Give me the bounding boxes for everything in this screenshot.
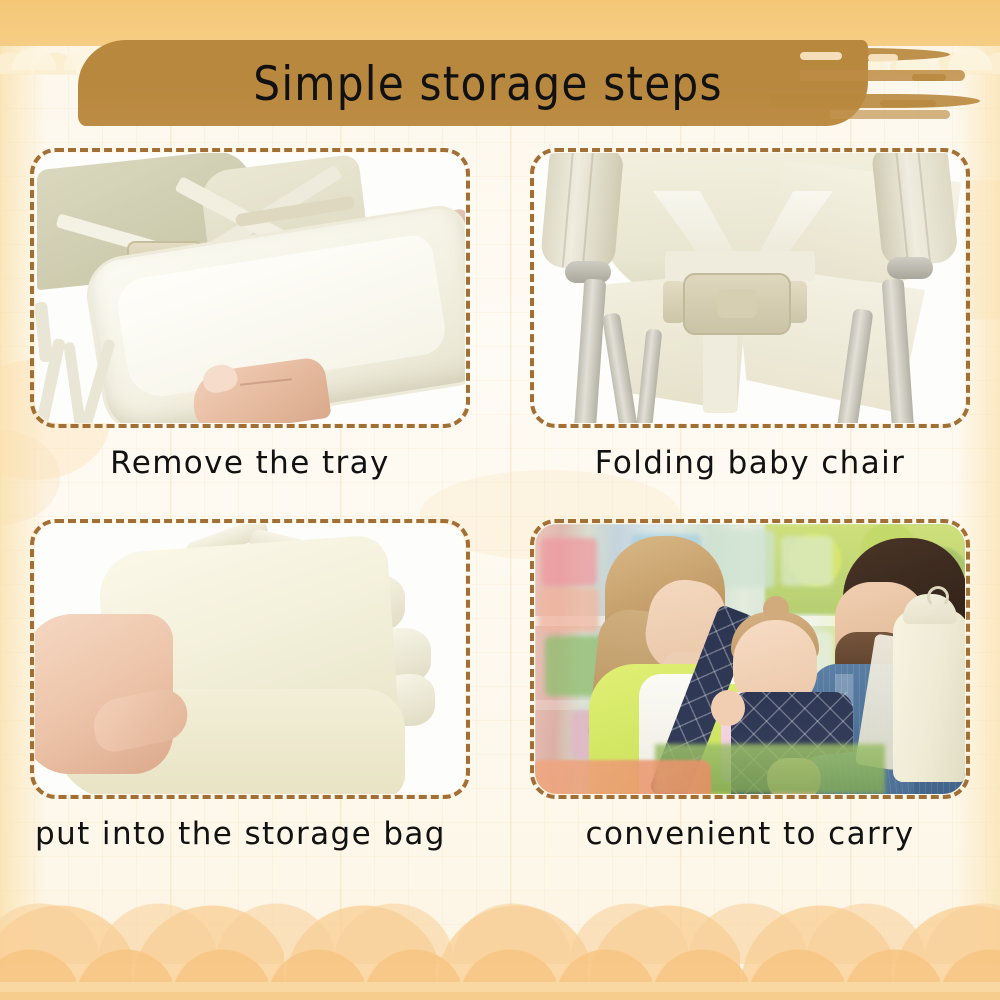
step-3-caption: put into the storage bag [21, 815, 479, 854]
step-4-caption: convenient to carry [528, 815, 972, 854]
step-4-photo-wrap [530, 519, 970, 799]
step-card-3[interactable]: put into the storage bag [0, 519, 500, 854]
steps-row-bottom: put into the storage bag [0, 519, 1000, 854]
page-title: Simple storage steps [0, 36, 1000, 132]
product-infographic-page: Simple storage steps [0, 0, 1000, 1000]
folded-baby-chair-harness-photo [535, 153, 965, 423]
step-2-photo-wrap [530, 148, 970, 428]
page-header: Simple storage steps [0, 36, 1000, 132]
chair-into-storage-bag-photo [35, 524, 465, 794]
step-card-4[interactable]: convenient to carry [500, 519, 1000, 854]
step-card-2[interactable]: Folding baby chair [500, 148, 1000, 483]
step-1-caption: Remove the tray [28, 444, 472, 483]
step-2-caption: Folding baby chair [528, 444, 972, 483]
step-3-photo-wrap [30, 519, 470, 799]
steps-grid: Remove the tray [0, 148, 1000, 854]
step-card-1[interactable]: Remove the tray [0, 148, 500, 483]
background-bottom-edge [0, 992, 1000, 1000]
family-carrying-bag-supermarket-photo [535, 524, 965, 794]
baby-high-chair-tray-removal-photo [35, 153, 465, 423]
steps-row-top: Remove the tray [0, 148, 1000, 483]
step-1-photo-wrap [30, 148, 470, 428]
